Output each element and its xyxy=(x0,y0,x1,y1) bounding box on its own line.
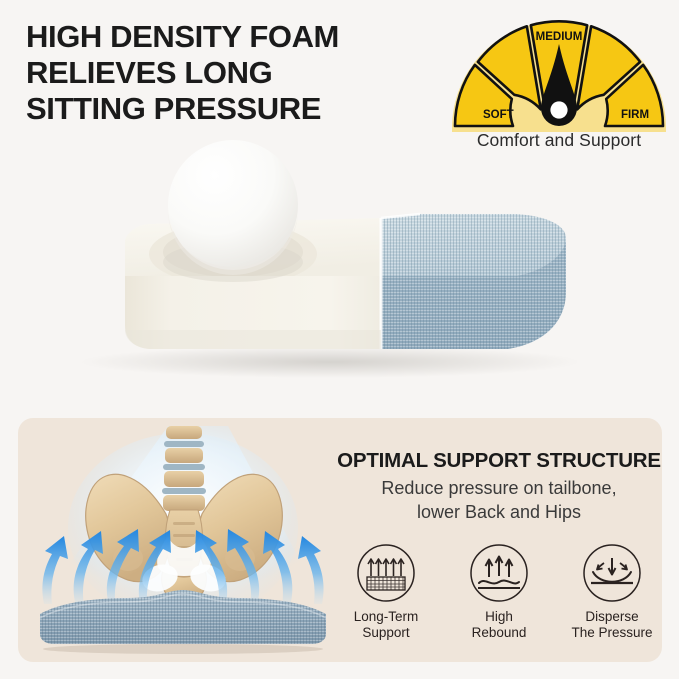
disperse-pressure-icon xyxy=(582,543,642,603)
feature-label: High Rebound xyxy=(472,609,527,641)
support-structure-panel: OPTIMAL SUPPORT STRUCTURE Reduce pressur… xyxy=(18,418,662,662)
cushion-illustration xyxy=(0,130,679,400)
gauge-label-medium: MEDIUM xyxy=(536,31,583,43)
panel-subtitle: Reduce pressure on tailbone, lower Back … xyxy=(318,477,662,525)
feature-label: Long-Term Support xyxy=(354,609,419,641)
rebound-wave-icon xyxy=(469,543,529,603)
product-infographic: HIGH DENSITY FOAM RELIEVES LONG SITTING … xyxy=(0,0,679,679)
feature-label: Disperse The Pressure xyxy=(571,609,652,641)
grid-support-icon xyxy=(356,543,416,603)
gauge-label-soft: SOFT xyxy=(483,109,514,121)
feature-list: Long-Term Support High Rebound xyxy=(318,543,662,653)
feature-long-term-support: Long-Term Support xyxy=(332,543,440,653)
feature-disperse-pressure: Disperse The Pressure xyxy=(558,543,662,653)
product-photo xyxy=(0,130,679,400)
drop-shadow xyxy=(80,346,580,378)
panel-title: OPTIMAL SUPPORT STRUCTURE xyxy=(318,449,662,473)
page-title: HIGH DENSITY FOAM RELIEVES LONG SITTING … xyxy=(26,19,446,127)
firmness-gauge: SOFT MEDIUM FIRM Comfort and Support xyxy=(447,14,671,144)
pelvis-graphic xyxy=(18,418,348,662)
pressure-sphere xyxy=(168,140,298,270)
pelvis-illustration xyxy=(18,418,348,662)
feature-high-rebound: High Rebound xyxy=(445,543,553,653)
gauge-graphic: SOFT MEDIUM FIRM xyxy=(447,14,671,134)
gauge-label-firm: FIRM xyxy=(621,109,649,121)
